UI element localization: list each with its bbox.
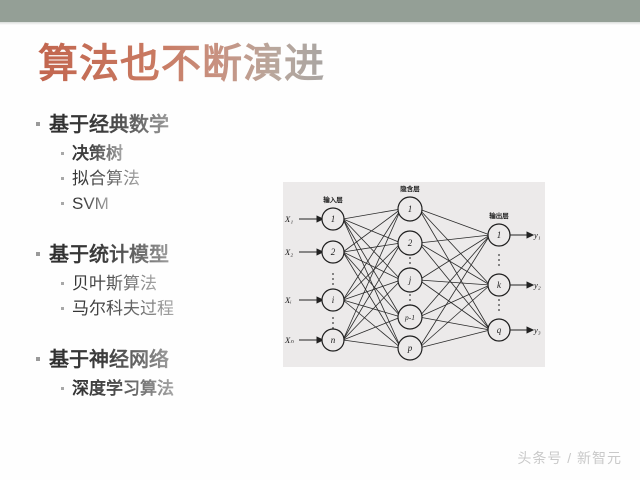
- bullet-square-icon: [36, 122, 40, 126]
- bullet-square-icon: [61, 282, 64, 285]
- input-signal-label: X₁: [284, 214, 293, 224]
- outline-list: 基于经典数学 决策树 拟合算法 SVM 基于统计模型 贝叶: [36, 112, 266, 415]
- outline-heading: 基于神经网络: [36, 347, 266, 373]
- bullet-square-icon: [61, 152, 64, 155]
- list-item: 拟合算法: [61, 167, 266, 191]
- svg-text:q: q: [497, 325, 502, 335]
- outline-group: 基于经典数学 决策树 拟合算法 SVM: [36, 112, 266, 216]
- top-accent-band: [0, 0, 640, 22]
- list-item-label: SVM: [72, 192, 109, 216]
- outline-heading: 基于经典数学: [36, 112, 266, 138]
- top-band-shadow: [0, 22, 640, 25]
- bullet-square-icon: [36, 252, 40, 256]
- bullet-square-icon: [61, 202, 64, 205]
- page-title: 算法也不断演进: [38, 40, 325, 88]
- list-item-label: 决策树: [72, 142, 123, 166]
- list-item-label: 深度学习算法: [72, 377, 174, 401]
- outline-heading-label: 基于统计模型: [49, 242, 169, 268]
- outline-group: 基于统计模型 贝叶斯算法 马尔科夫过程: [36, 242, 266, 321]
- svg-text:2: 2: [408, 238, 413, 248]
- outline-heading-label: 基于神经网络: [49, 347, 169, 373]
- list-item: 马尔科夫过程: [61, 297, 266, 321]
- outline-heading-label: 基于经典数学: [49, 112, 169, 138]
- input-signal-label: Xᵢ: [284, 295, 292, 305]
- bullet-square-icon: [61, 307, 64, 310]
- svg-text:1: 1: [497, 230, 502, 240]
- neural-network-diagram: 1 2 i n 1 2 j p-1 p 1 k q: [283, 182, 545, 367]
- svg-text:1: 1: [408, 204, 413, 214]
- slide-canvas: 算法也不断演进 基于经典数学 决策树 拟合算法 SVM: [0, 0, 640, 480]
- input-layer-label: 输入层: [323, 195, 343, 204]
- list-item-label: 贝叶斯算法: [72, 272, 157, 296]
- svg-text:j: j: [408, 275, 412, 285]
- bullet-square-icon: [36, 357, 40, 361]
- svg-text:n: n: [331, 335, 336, 345]
- outline-group: 基于神经网络 深度学习算法: [36, 347, 266, 401]
- output-signal-label: y₁: [533, 230, 541, 240]
- output-layer-label: 输出层: [489, 211, 509, 220]
- list-item: 贝叶斯算法: [61, 272, 266, 296]
- svg-text:2: 2: [331, 247, 336, 257]
- bullet-square-icon: [61, 177, 64, 180]
- output-signal-label: y₂: [533, 280, 541, 290]
- outline-heading: 基于统计模型: [36, 242, 266, 268]
- input-signal-label: Xₙ: [284, 335, 294, 345]
- hidden-layer-label: 隐含层: [400, 184, 420, 193]
- list-item: 决策树: [61, 142, 266, 166]
- list-item-label: 马尔科夫过程: [72, 297, 174, 321]
- list-item: 深度学习算法: [61, 377, 266, 401]
- list-item: SVM: [61, 192, 266, 216]
- input-signal-label: X₂: [284, 247, 293, 257]
- svg-text:1: 1: [331, 214, 336, 224]
- output-signal-label: y₃: [533, 325, 541, 335]
- watermark: 头条号 / 新智元: [517, 448, 622, 468]
- list-item-label: 拟合算法: [72, 167, 140, 191]
- svg-text:p: p: [407, 343, 413, 353]
- bullet-square-icon: [61, 387, 64, 390]
- svg-text:p-1: p-1: [404, 313, 415, 322]
